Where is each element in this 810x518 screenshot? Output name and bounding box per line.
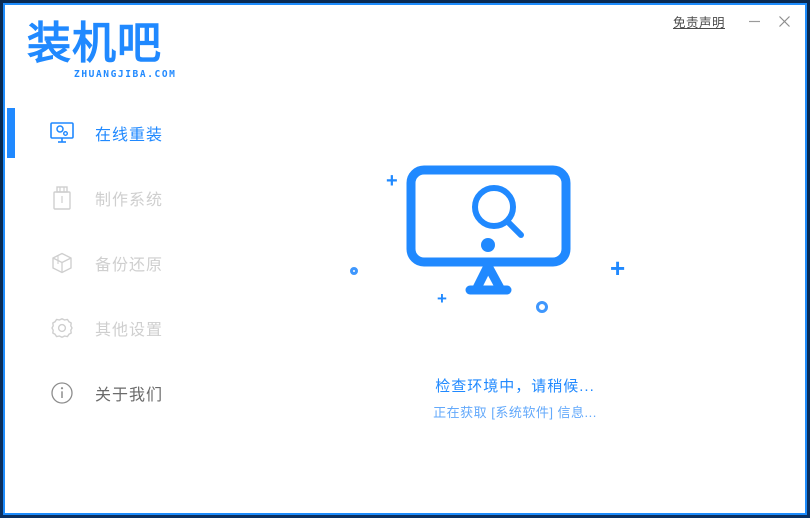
plus-decoration-icon: + (386, 171, 398, 191)
sidebar-item-label: 在线重装 (95, 121, 163, 145)
info-icon (47, 381, 77, 405)
status-primary-text: 检查环境中，请稍候... (225, 375, 805, 399)
window-body: 免责声明 装机吧 ZHUANGJIBA.COM (3, 3, 807, 515)
sidebar-item-label: 关于我们 (95, 381, 163, 405)
sidebar-item-about-us[interactable]: 关于我们 (5, 360, 225, 425)
active-indicator-bar (7, 108, 15, 158)
status-messages: 检查环境中，请稍候... 正在获取 [系统软件] 信息... (225, 375, 805, 424)
title-bar: 免责声明 (5, 5, 805, 37)
close-button[interactable] (769, 8, 799, 34)
window-frame: 免责声明 装机吧 ZHUANGJIBA.COM (0, 0, 810, 518)
box-icon (47, 251, 77, 275)
sidebar-item-make-system[interactable]: 制作系统 (5, 165, 225, 230)
ring-decoration-icon (350, 267, 358, 275)
gear-icon (47, 316, 77, 340)
minimize-icon (748, 15, 761, 28)
sidebar-item-online-reinstall[interactable]: 在线重装 (5, 100, 225, 165)
sidebar-item-other-settings[interactable]: 其他设置 (5, 295, 225, 360)
ring-decoration-icon (536, 301, 548, 313)
sidebar-item-label: 其他设置 (95, 316, 163, 340)
monitor-icon (47, 122, 77, 144)
plus-decoration-icon: + (610, 255, 625, 281)
sidebar-item-backup-restore[interactable]: 备份还原 (5, 230, 225, 295)
sidebar-item-label: 制作系统 (95, 186, 163, 210)
status-illustration: + + + (350, 165, 680, 365)
status-secondary-text: 正在获取 [系统软件] 信息... (225, 402, 805, 424)
sidebar: 在线重装 制作系统 (5, 100, 225, 513)
monitor-search-icon (406, 165, 571, 295)
logo-subtitle: ZHUANGJIBA.COM (74, 69, 176, 80)
close-icon (778, 15, 791, 28)
sidebar-item-label: 备份还原 (95, 251, 163, 275)
minimize-button[interactable] (739, 8, 769, 34)
main-content: + + + 检查环境中，请稍候... 正在获取 [系统软件] 信息... (225, 37, 805, 513)
usb-drive-icon (47, 186, 77, 210)
disclaimer-link[interactable]: 免责声明 (673, 12, 725, 31)
